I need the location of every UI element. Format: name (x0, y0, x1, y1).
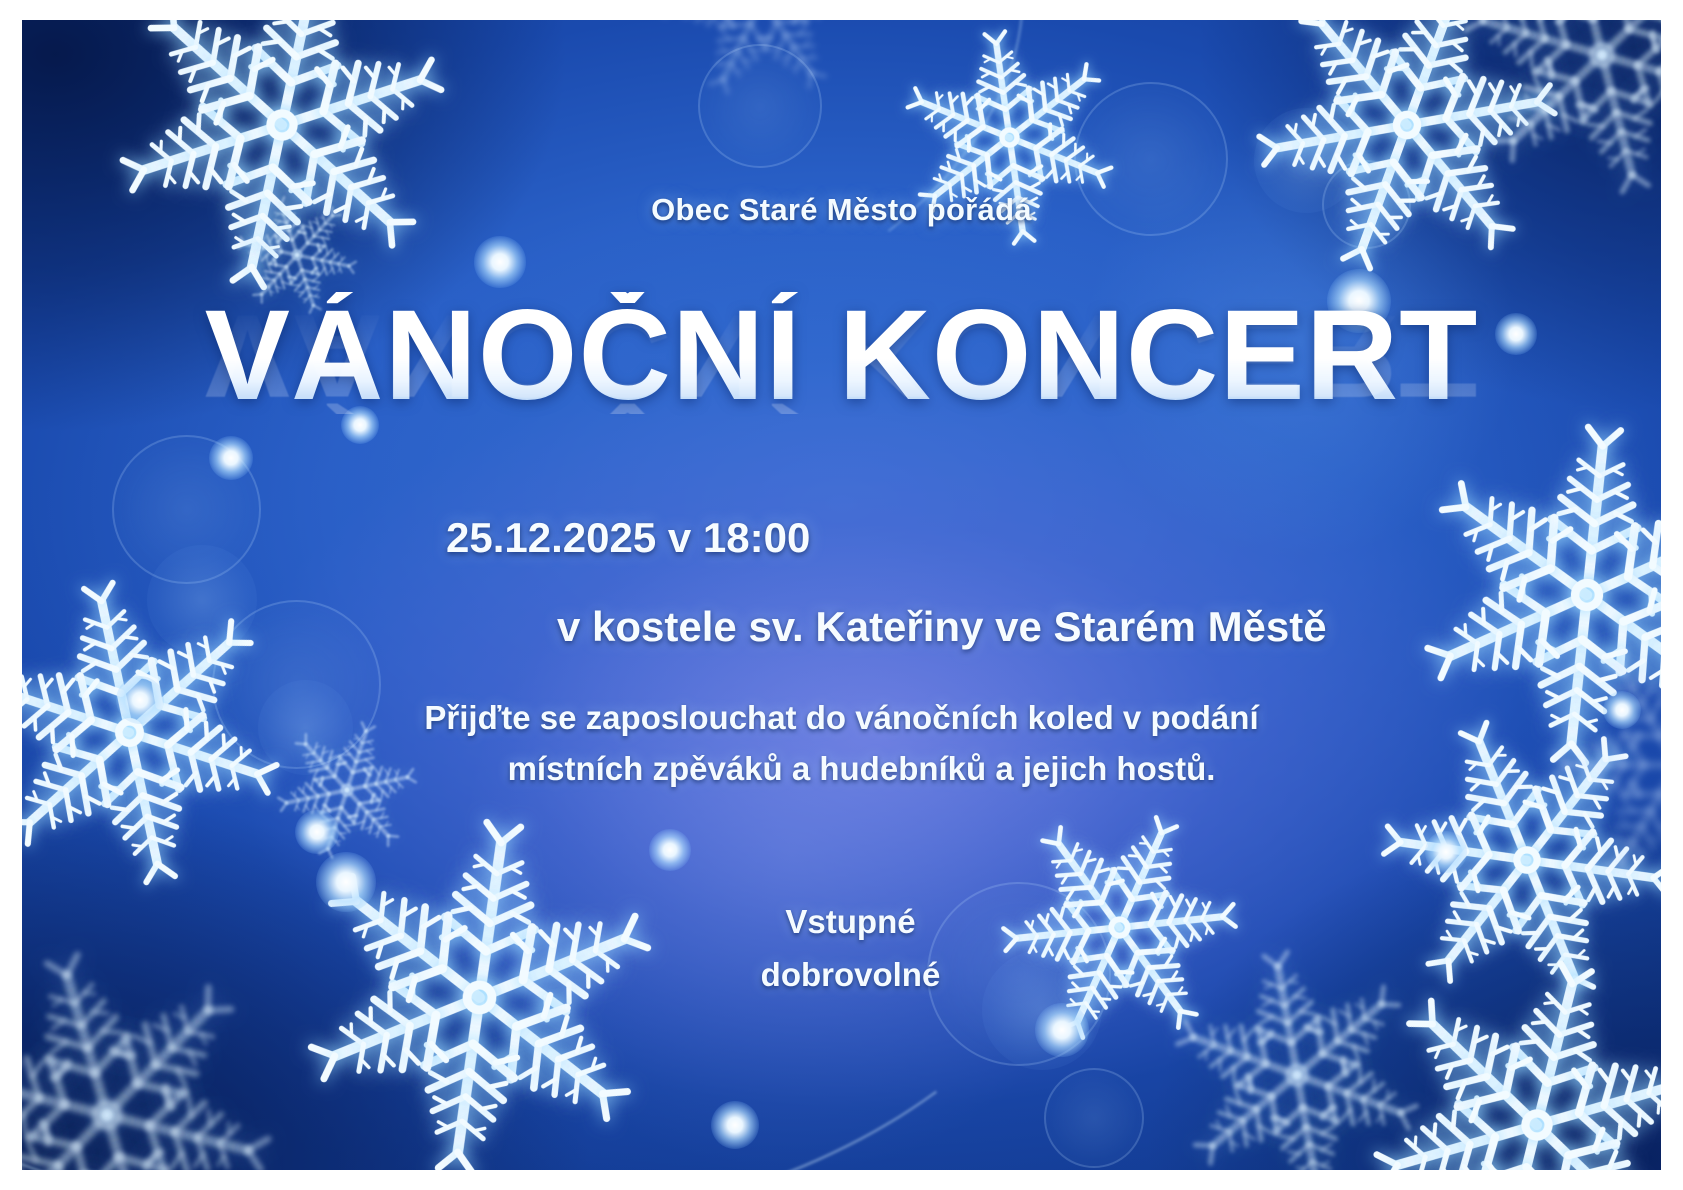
title-reflection: VÁNOČNÍ KONCERT (205, 296, 1479, 414)
description-line-1: Přijďte se zaposlouchat do vánočních kol… (424, 699, 1258, 736)
organizer-line: Obec Staré Město pořádá (22, 192, 1661, 228)
admission-line-1: Vstupné (22, 895, 1661, 948)
poster-inner-frame: Obec Staré Město pořádá VÁNOČNÍ KONCERT … (22, 20, 1661, 1170)
poster-content: Obec Staré Město pořádá VÁNOČNÍ KONCERT … (22, 20, 1661, 1170)
event-venue: v kostele sv. Kateřiny ve Starém Městě (557, 603, 1327, 651)
description-line-2: místních zpěváků a hudebníků a jejich ho… (22, 743, 1661, 794)
admission-line-2: dobrovolné (22, 948, 1661, 1001)
admission-note: Vstupné dobrovolné (22, 895, 1661, 1002)
event-datetime: 25.12.2025 v 18:00 (446, 514, 810, 562)
title-block: VÁNOČNÍ KONCERT VÁNOČNÍ KONCERT (22, 292, 1661, 542)
event-description: Přijďte se zaposlouchat do vánočních kol… (22, 692, 1661, 794)
poster-canvas: Obec Staré Město pořádá VÁNOČNÍ KONCERT … (0, 0, 1683, 1190)
